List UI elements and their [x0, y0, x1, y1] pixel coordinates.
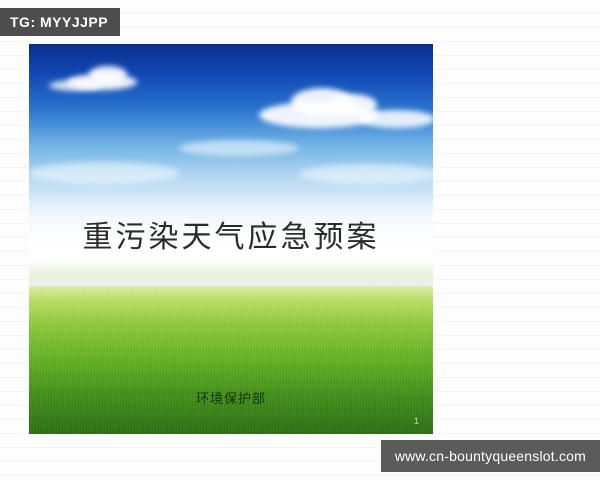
grass-field: [29, 286, 433, 434]
cloud-shape: [49, 80, 101, 91]
cloud-shape: [179, 140, 299, 156]
url-watermark-tag: www.cn-bountyqueenslot.com: [381, 440, 600, 472]
horizon-blend: [29, 260, 433, 286]
cloud-shape: [359, 110, 433, 128]
cloud-shape: [299, 164, 433, 184]
document-page: 重污染天气应急预案 环境保护部 1 TG: MYYJJPP www.cn-bou…: [0, 0, 600, 480]
slide-image: 重污染天气应急预案 环境保护部 1: [29, 44, 433, 434]
slide-subtitle: 环境保护部: [29, 388, 433, 407]
slide-title: 重污染天气应急预案: [29, 212, 433, 256]
slide-page-number: 1: [414, 416, 419, 426]
cloud-shape: [89, 66, 127, 83]
cloud-shape: [29, 162, 179, 184]
telegram-watermark-tag: TG: MYYJJPP: [0, 8, 120, 36]
